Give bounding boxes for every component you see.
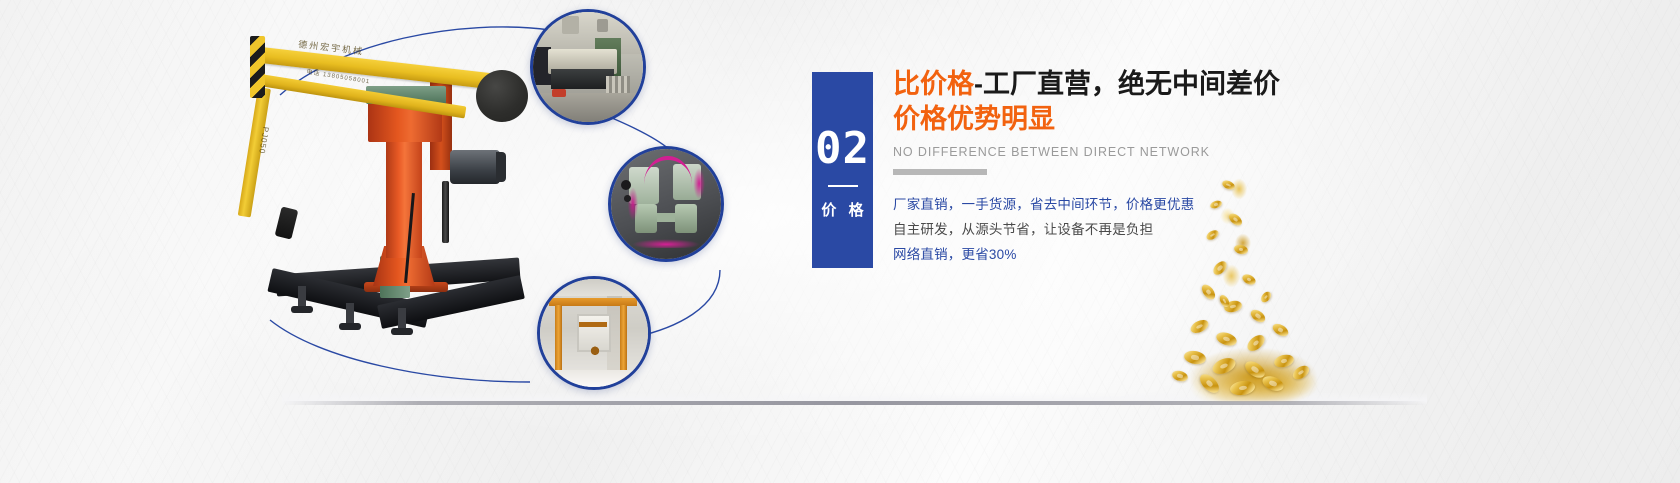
machine-shaft [442,181,449,243]
shop-red-object [552,89,566,97]
machine-shop-photo-inner [533,12,643,122]
headline-subtitle-en: NO DIFFERENCE BETWEEN DIRECT NETWORK [893,145,1363,159]
step-number-label: 价 格 [817,199,867,220]
headline-underline [893,169,987,175]
gold-coins-decor [1150,175,1350,405]
valve-port [624,195,631,202]
gantry-end-effector [583,346,607,370]
pneumatic-valve-photo-inner [611,149,721,259]
workshop-gantry-photo [537,276,651,390]
machine-motor [450,150,500,184]
machine-shop-photo [530,9,646,125]
machine-arm-tip [275,206,299,239]
machine-arm-hazard-stripe [250,36,265,98]
gantry-arm [579,322,607,326]
headline-highlight: 比价格 [893,69,974,99]
jib-crane-illustration: 德州宏宇机械 电话 13805058001 PJ050 [228,18,528,358]
shop-upper-equipment [562,16,580,34]
step-number-divider [828,185,858,187]
workshop-gantry-photo-inner [540,279,648,387]
gantry-ceiling [540,279,648,296]
promo-banner: 德州宏宇机械 电话 13805058001 PJ050 [0,0,1680,483]
headline-rest: -工厂直营，绝无中间差价 [974,69,1280,99]
gantry-floor [540,370,648,387]
machine-column [386,138,422,258]
headline-line-2: 价格优势明显 [893,103,1363,136]
valve-port [621,180,631,190]
shop-floor [533,93,643,122]
pneumatic-valve-photo [608,146,724,262]
machine-foot [346,303,354,325]
headline-line-1: 比价格-工厂直营，绝无中间差价 [893,68,1363,101]
machine-foot [298,286,306,308]
dark-sphere-decor [476,70,528,122]
machine-motor-cap [496,152,506,182]
step-number: 02 [815,127,870,171]
machine-foot [398,308,406,330]
magenta-highlight [620,156,712,248]
shop-upper-equipment [597,19,608,32]
step-number-block: 02 价 格 [812,72,873,268]
